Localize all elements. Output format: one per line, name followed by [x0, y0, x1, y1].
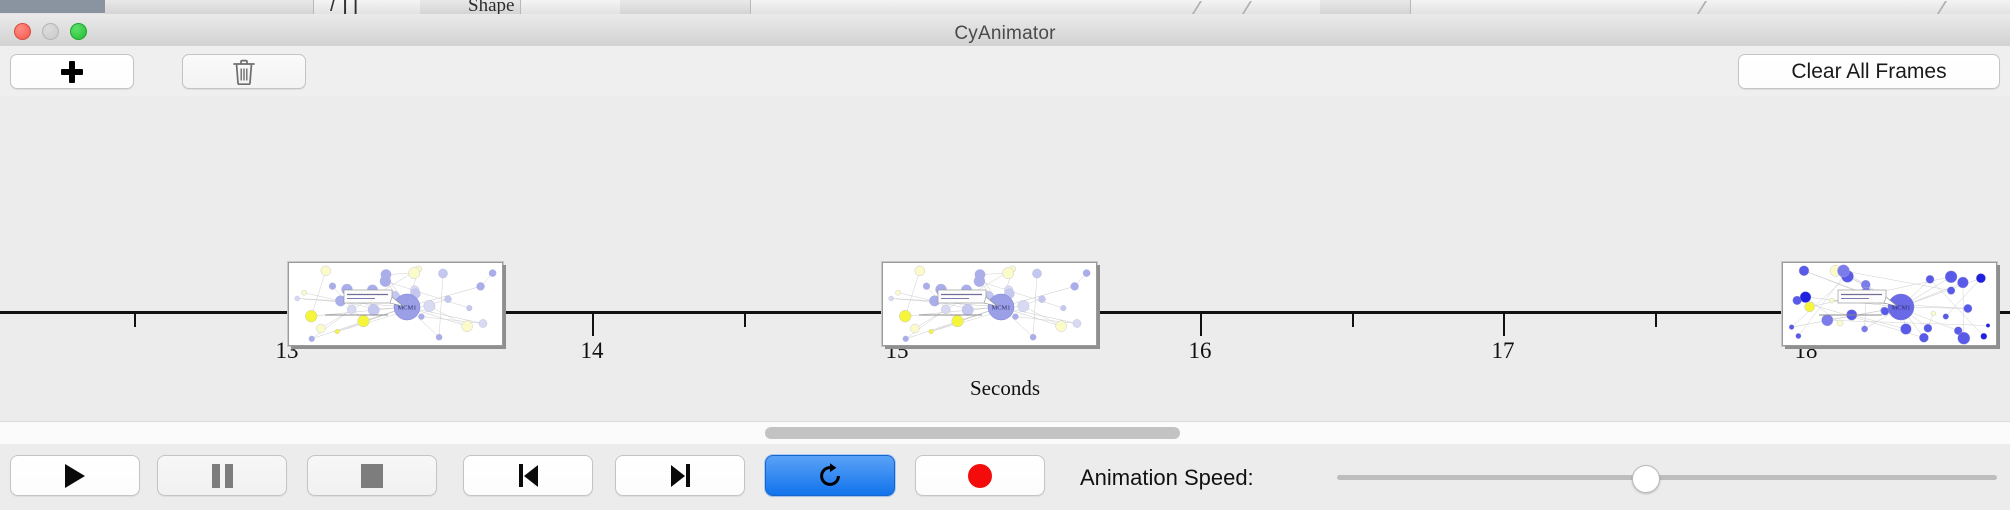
axis-title: Seconds [0, 376, 2010, 401]
axis-tick-label: 16 [1189, 338, 1212, 364]
skip-backward-icon [519, 464, 538, 487]
stop-button[interactable] [307, 455, 437, 496]
axis-tick-minor [1655, 314, 1657, 327]
play-button[interactable] [10, 455, 140, 496]
background-curve-d [1935, 1, 1977, 15]
loop-icon [815, 461, 845, 491]
stop-icon [361, 464, 383, 488]
background-curve-c [1695, 1, 1737, 15]
trash-icon [232, 58, 256, 86]
background-panel-e [1320, 0, 1411, 14]
axis-tick-minor [744, 314, 746, 327]
background-glyph-a: / ∏ [330, 0, 359, 15]
background-panel-d [620, 0, 751, 14]
axis-tick-label: 17 [1492, 338, 1515, 364]
pause-icon [212, 464, 233, 488]
toolbar: Clear All Frames [0, 46, 2010, 97]
background-curve-a [1190, 1, 1232, 15]
scrollbar-thumb[interactable] [765, 427, 1180, 439]
axis-tick-minor [134, 314, 136, 327]
animation-speed-slider[interactable] [1337, 475, 1997, 480]
skip-to-end-button[interactable] [615, 455, 745, 496]
animation-speed-slider-thumb[interactable] [1632, 465, 1660, 493]
axis-tick-major [1503, 314, 1505, 336]
axis-tick-label: 14 [581, 338, 604, 364]
timeline-panel[interactable]: 12131415161718 MCM1 MCM1 MCM1 Secon [0, 96, 2010, 421]
animation-speed-label: Animation Speed: [1080, 465, 1254, 491]
plus-icon [60, 60, 84, 84]
frame-thumbnail[interactable]: MCM1 [288, 262, 503, 346]
frame-thumbnail[interactable]: MCM1 [882, 262, 1097, 346]
title-bar[interactable]: CyAnimator [0, 14, 2010, 47]
background-panel-b [225, 0, 314, 14]
axis-tick-major [1200, 314, 1202, 336]
transport-bar: Animation Speed: [0, 444, 2010, 510]
skip-to-start-button[interactable] [463, 455, 593, 496]
loop-button[interactable] [765, 455, 895, 496]
frame-thumbnail[interactable]: MCM1 [1782, 262, 1997, 346]
window-title: CyAnimator [0, 23, 2010, 45]
record-icon [968, 464, 992, 488]
axis-tick-major [592, 314, 594, 336]
background-window-label: Shape [468, 0, 514, 15]
add-frame-button[interactable] [10, 54, 134, 89]
background-curve-b [1240, 1, 1282, 15]
axis-tick-minor [1352, 314, 1354, 327]
clear-all-frames-button[interactable]: Clear All Frames [1738, 54, 2000, 89]
background-desktop-strip: / ∏ Shape [0, 0, 2010, 15]
timeline-scrollbar[interactable] [0, 421, 2010, 445]
skip-forward-icon [671, 464, 690, 487]
delete-frame-button[interactable] [182, 54, 306, 89]
play-icon [65, 464, 85, 488]
record-button[interactable] [915, 455, 1045, 496]
pause-button[interactable] [157, 455, 287, 496]
cyanimator-window: / ∏ Shape CyAnimator Clear All Frames [0, 0, 2010, 510]
background-panel-a [105, 0, 226, 14]
background-dark-bar [0, 0, 105, 13]
